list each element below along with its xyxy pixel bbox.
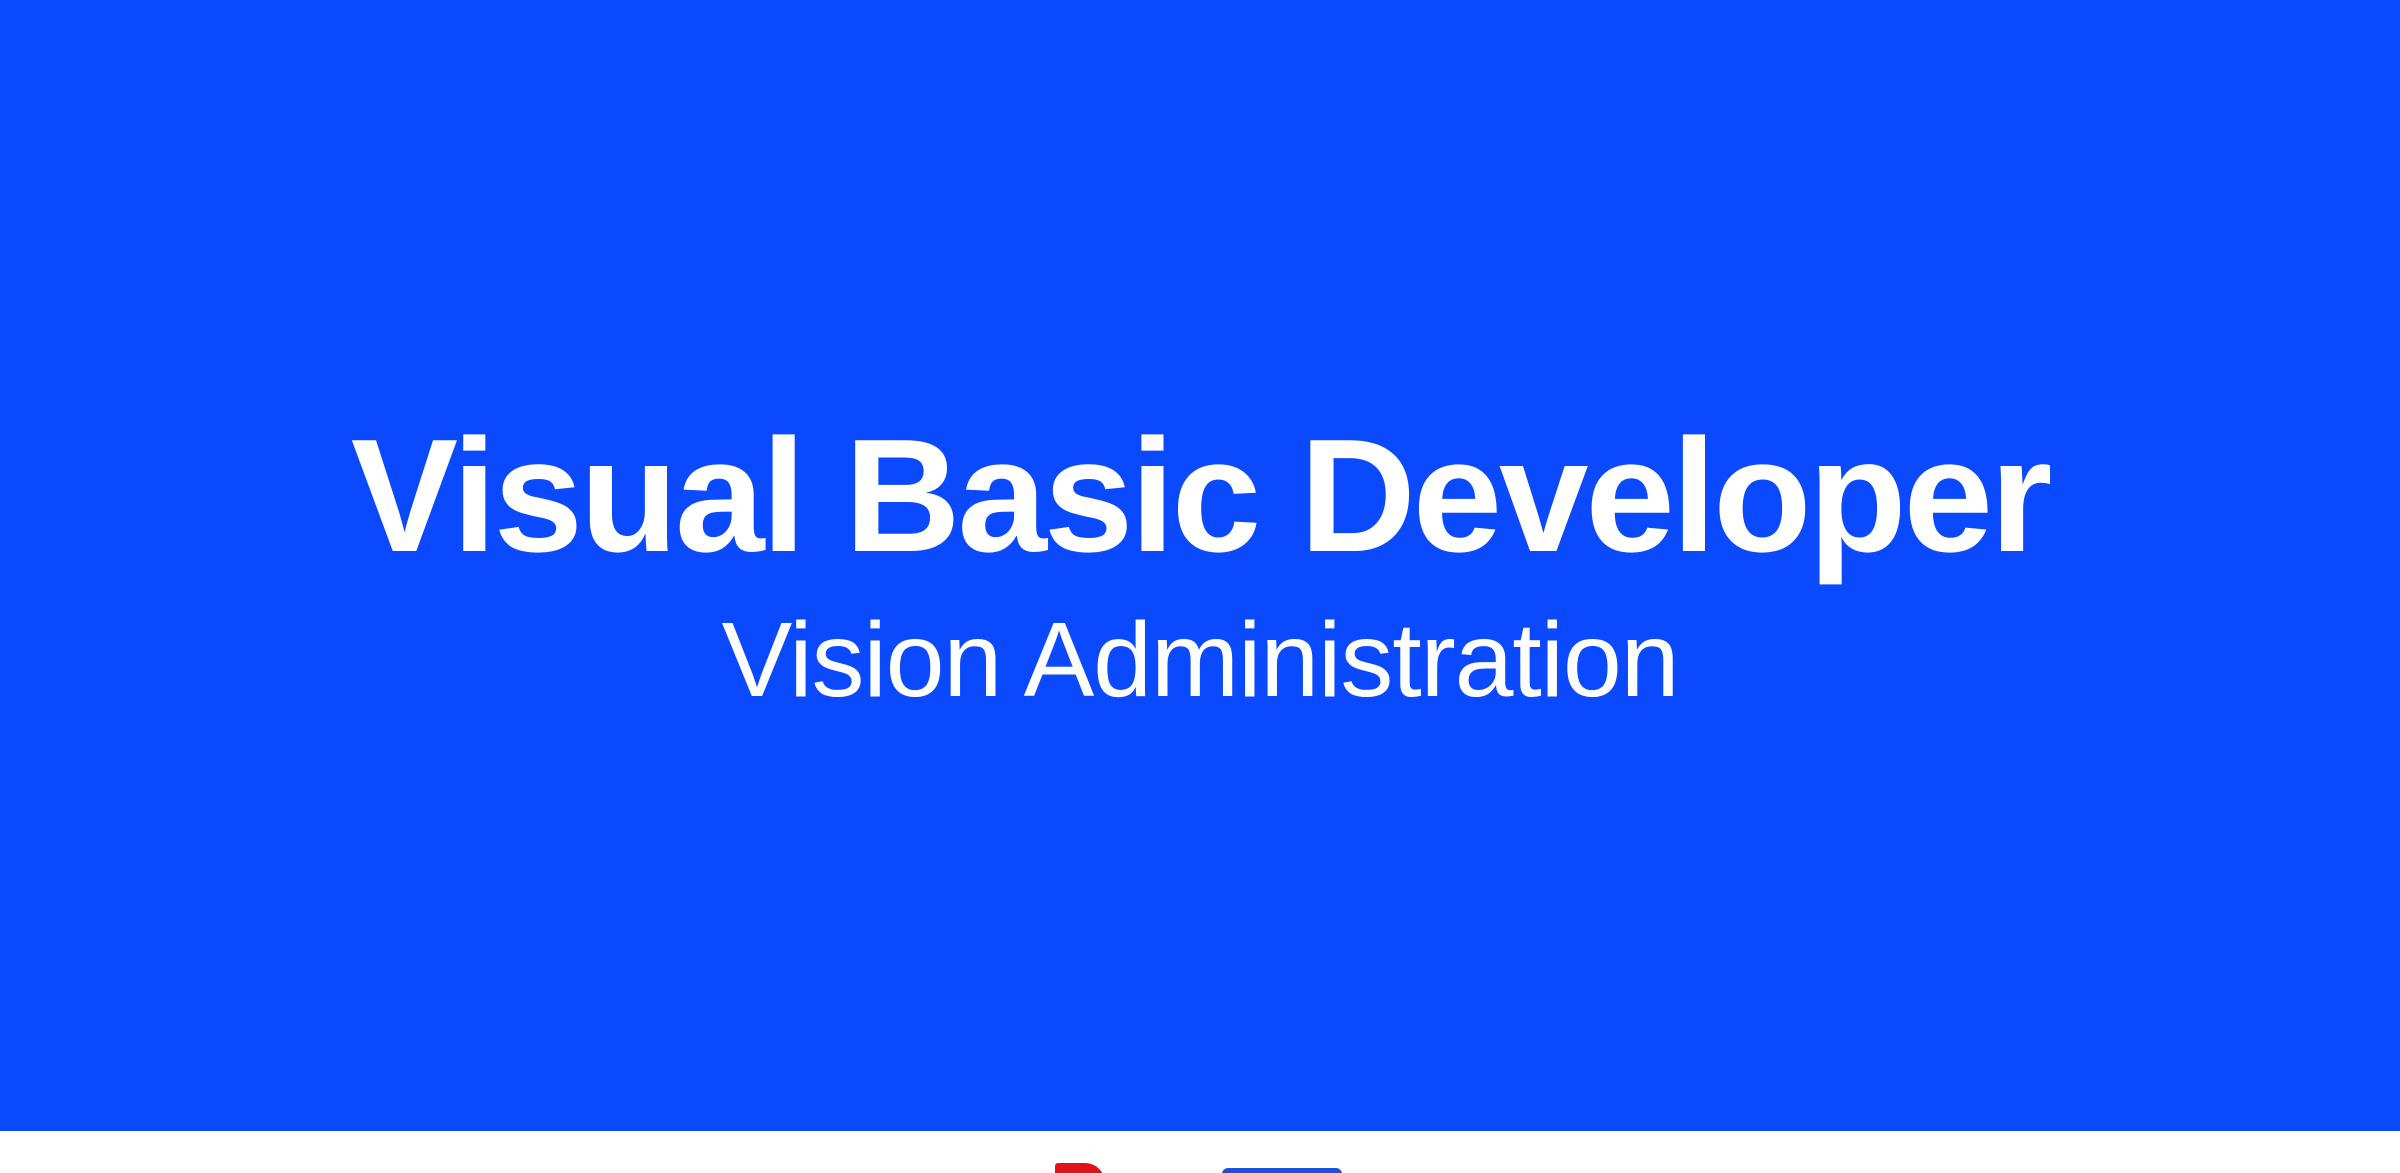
presentation-slide: Visual Basic Developer Vision Administra… <box>0 0 2400 1173</box>
footer-logo-row <box>0 1131 2400 1173</box>
footer-strip <box>0 1131 2400 1173</box>
blue-rounded-bar-mark-icon <box>1222 1168 1342 1173</box>
page-subtitle: Vision Administration <box>0 607 2400 713</box>
hero-panel: Visual Basic Developer Vision Administra… <box>0 0 2400 1131</box>
red-rounded-mark-icon <box>1055 1163 1105 1173</box>
page-title: Visual Basic Developer <box>0 416 2400 577</box>
